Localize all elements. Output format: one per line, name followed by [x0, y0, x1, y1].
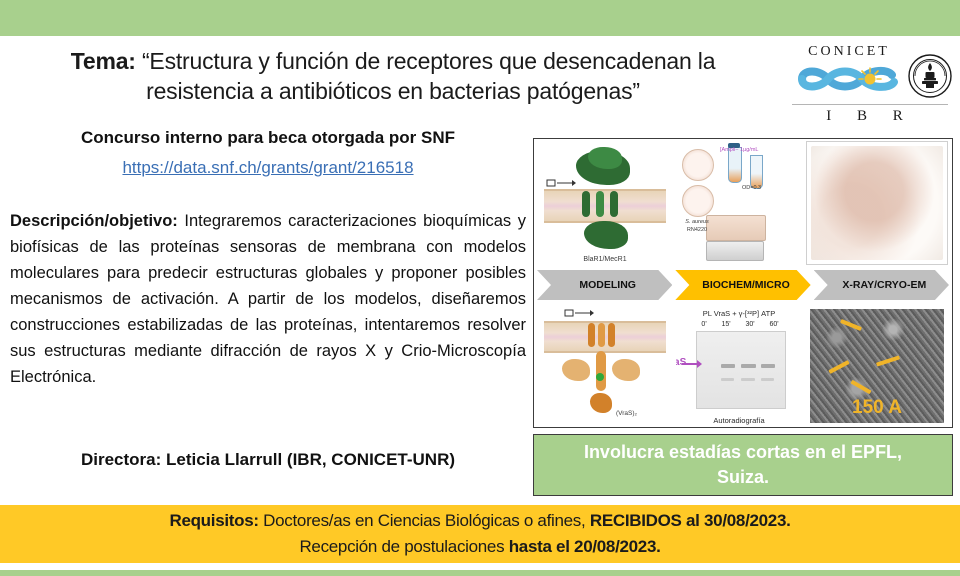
page-title: Tema: “Estructura y función de receptore…	[8, 46, 778, 106]
chevron-modeling[interactable]: MODELING	[537, 270, 672, 300]
gel-time-0: 0'	[701, 321, 706, 328]
footer-requisitos-label: Requisitos:	[169, 511, 258, 530]
lipid-bilayer-icon-2	[544, 321, 666, 353]
callout-line-1: Involucra estadías cortas en el EPFL,	[584, 440, 902, 465]
conicet-wordmark: CONICET	[794, 44, 904, 60]
gel-timepoints: 0' 15' 30' 60'	[694, 321, 786, 328]
ligand-arrow-icon	[546, 177, 576, 191]
footer-line-1: Requisitos: Doctores/as en Ciencias Biol…	[169, 508, 790, 534]
logo-divider	[792, 104, 948, 105]
footer-reception-text: Recepción de postulaciones	[299, 537, 508, 556]
figure-panel-em-micrograph: 150 A	[806, 307, 948, 427]
gel-caption: Autoradiografía	[676, 416, 802, 425]
callout-line-2: Suiza.	[584, 465, 902, 490]
title-line-2: resistencia a antibióticos en bacterias …	[8, 76, 778, 106]
figure-bottom-row: (VraS)₂ PL VraS + γ-[³²P] ATP 0' 15' 30'…	[534, 307, 952, 427]
workflow-chevron-strip: MODELING BIOCHEM/MICRO X-RAY/CRYO-EM	[537, 270, 949, 300]
director-line: Directora: Leticia Llarrull (IBR, CONICE…	[8, 450, 528, 470]
title-text-1: “Estructura y función de receptores que …	[142, 48, 715, 74]
chevron-xray-cryoem[interactable]: X-RAY/CRYO-EM	[814, 270, 949, 300]
requirements-footer: Requisitos: Doctores/as en Ciencias Biol…	[0, 505, 960, 563]
figure-caption-vras: (VraS)₂	[616, 410, 637, 417]
gel-time-30: 30'	[745, 321, 754, 328]
top-green-bar: ···	[0, 0, 960, 36]
microscopy-image	[811, 146, 943, 260]
figure-label-strain: S. aureus	[680, 219, 714, 225]
figure-panel-vras-model: (VraS)₂	[538, 307, 672, 427]
ibr-wordmark: I B R	[792, 108, 948, 125]
figure-panel-microscopy	[806, 141, 948, 265]
lipid-bilayer-icon	[544, 189, 666, 223]
description-paragraph: Descripción/objetivo: Integraremos carac…	[10, 208, 526, 390]
figure-label-od: OD=0.3	[742, 185, 761, 191]
bottom-green-strip	[0, 570, 960, 576]
footer-line-2: Recepción de postulaciones hasta el 20/0…	[299, 534, 660, 560]
description-body: Integraremos caracterizaciones bioquímic…	[10, 212, 526, 386]
figure-panel-culture-workflow: [Ampli− 1µg/mL OD=0.3 S. aureus RN4220	[676, 141, 802, 265]
figure-top-row: BlaR1/MecR1 [Ampli− 1µg/mL OD=0.3 S. aur…	[534, 139, 952, 267]
figure-panel-autoradiography: PL VraS + γ-[³²P] ATP 0' 15' 30' 60' Vra…	[676, 307, 802, 427]
description-label: Descripción/objetivo:	[10, 212, 178, 230]
gel-time-15: 15'	[722, 321, 731, 328]
epfl-callout-box: Involucra estadías cortas en el EPFL, Su…	[533, 434, 953, 496]
title-line-1: Tema: “Estructura y función de receptore…	[8, 46, 778, 76]
vras-arrow-icon	[682, 363, 698, 365]
gel-image	[696, 331, 786, 409]
chevron-biochem-micro[interactable]: BIOCHEM/MICRO	[675, 270, 810, 300]
em-scale-label: 150 A	[810, 397, 944, 419]
grant-link[interactable]: https://data.snf.ch/grants/grant/216518	[8, 158, 528, 178]
figure-label-ampli: [Ampli− 1µg/mL	[720, 147, 764, 153]
em-image: 150 A	[810, 309, 944, 423]
footer-deadline-reception: hasta el 20/08/2023.	[509, 537, 661, 556]
gel-time-60: 60'	[769, 321, 778, 328]
footer-deadline-recibidos: RECIBIDOS al 30/08/2023.	[590, 511, 791, 530]
top-bar-cutoff-text: ···	[0, 0, 960, 2]
ligand-arrow-icon-2	[564, 307, 594, 321]
figure-caption-blar1: BlaR1/MecR1	[538, 256, 672, 263]
gel-title: PL VraS + γ-[³²P] ATP	[676, 309, 802, 318]
figure-label-strain-id: RN4220	[680, 227, 714, 233]
figure-panel-blar1-model: BlaR1/MecR1	[538, 141, 672, 265]
subtitle-text: Concurso interno para beca otorgada por …	[8, 128, 528, 148]
conicet-infinity-icon	[794, 62, 906, 96]
footer-requisitos-text: Doctores/as en Ciencias Biológicas o afi…	[259, 511, 590, 530]
unr-seal-icon	[908, 54, 952, 98]
institution-logo-block: CONICET I B R	[790, 42, 952, 134]
title-label: Tema:	[71, 48, 136, 74]
